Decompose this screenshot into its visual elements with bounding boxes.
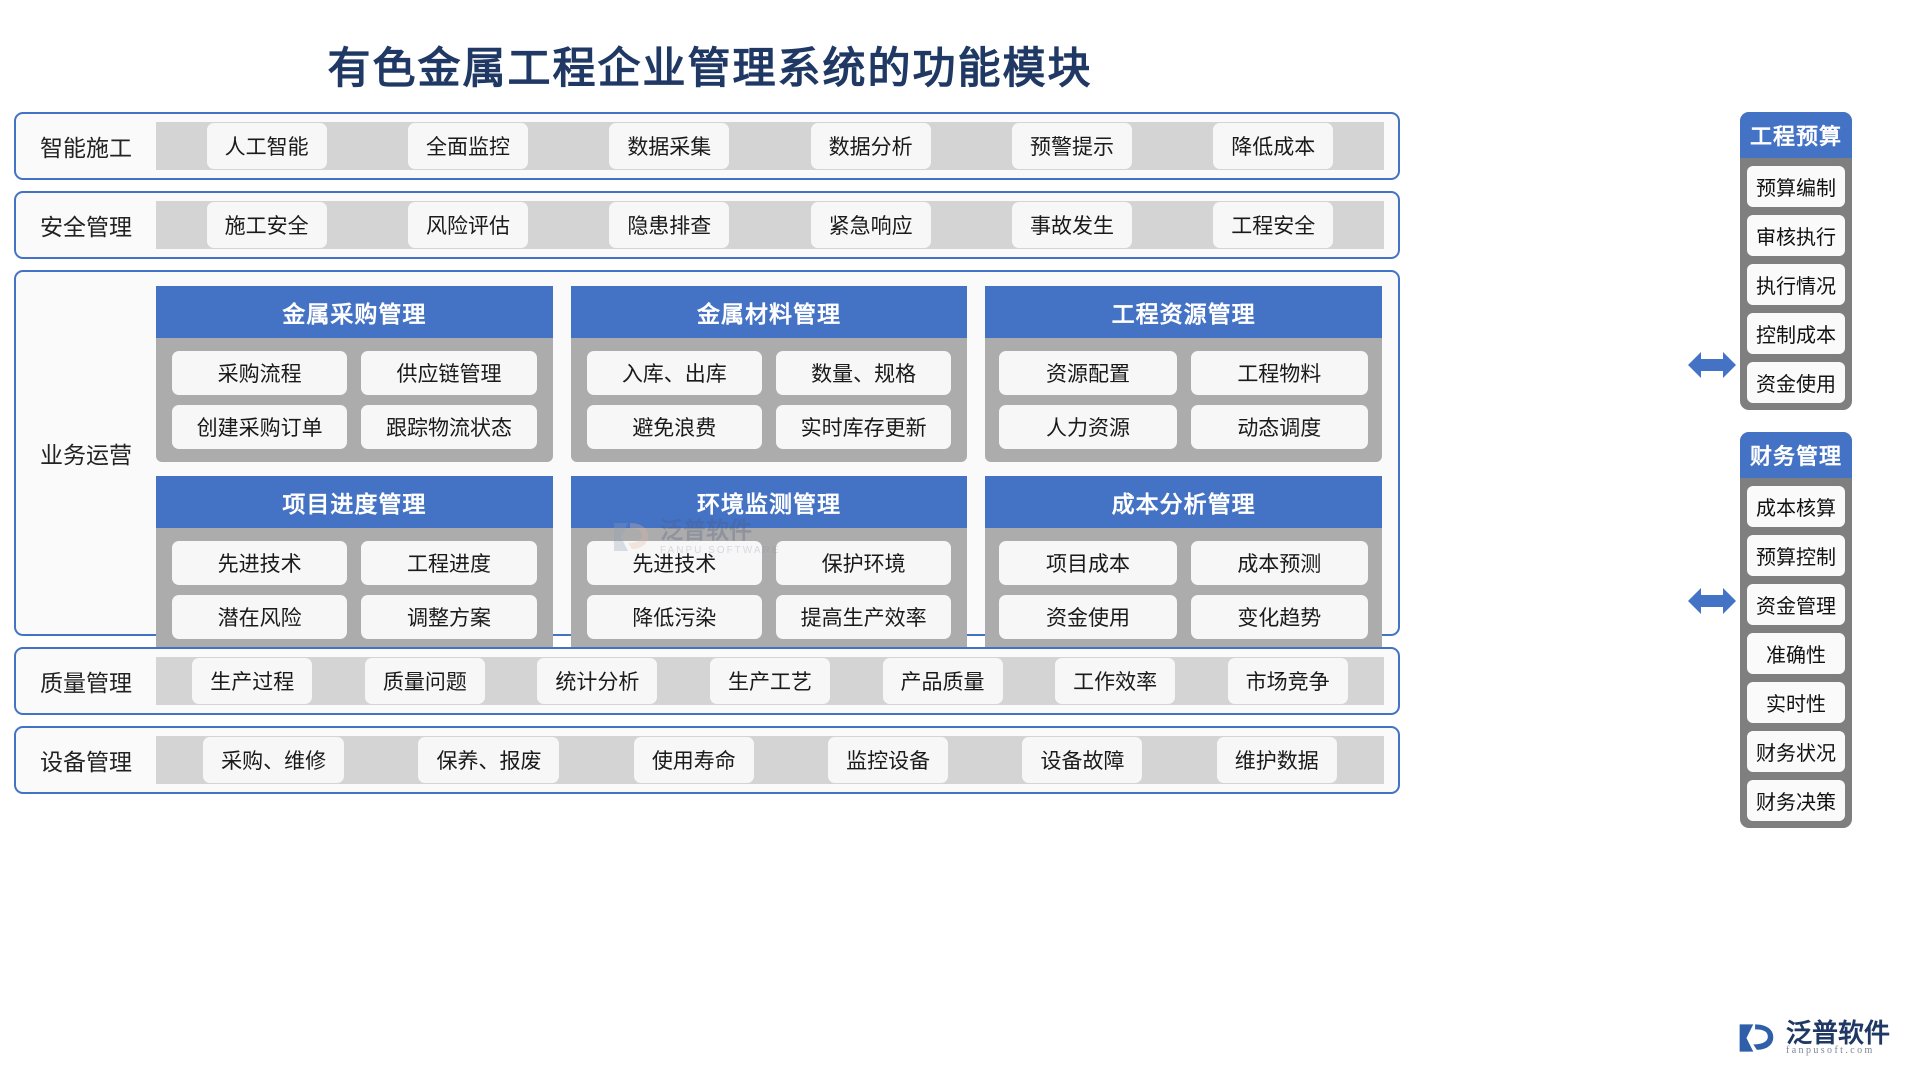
business-card-grid: 金属采购管理 采购流程 供应链管理 创建采购订单 跟踪物流状态 金属材料管理 入…	[156, 272, 1398, 634]
chip-item[interactable]: 采购流程	[172, 351, 347, 395]
chip-item[interactable]: 避免浪费	[587, 405, 762, 449]
chip-item[interactable]: 全面监控	[408, 123, 528, 169]
row-safety-management: 安全管理 施工安全 风险评估 隐患排查 紧急响应 事故发生 工程安全	[14, 191, 1400, 259]
card-metal-procurement: 金属采购管理 采购流程 供应链管理 创建采购订单 跟踪物流状态	[156, 286, 553, 462]
chip-item[interactable]: 调整方案	[361, 595, 536, 639]
main-column: 智能施工 人工智能 全面监控 数据采集 数据分析 预警提示 降低成本 安全管理 …	[14, 112, 1400, 805]
chip-item[interactable]: 先进技术	[172, 541, 347, 585]
row-smart-construction: 智能施工 人工智能 全面监控 数据采集 数据分析 预警提示 降低成本	[14, 112, 1400, 180]
page-title: 有色金属工程企业管理系统的功能模块	[0, 34, 1420, 96]
card-items: 先进技术 工程进度 潜在风险 调整方案	[156, 528, 553, 652]
chip-item[interactable]: 工程物料	[1191, 351, 1368, 395]
chip-item[interactable]: 动态调度	[1191, 405, 1368, 449]
chip-item[interactable]: 施工安全	[207, 202, 327, 248]
row-items-quality-management: 生产过程 质量问题 统计分析 生产工艺 产品质量 工作效率 市场竞争	[156, 657, 1384, 705]
row-label-quality-management: 质量管理	[16, 664, 156, 698]
sidebar-item[interactable]: 资金使用	[1747, 362, 1845, 403]
row-quality-management: 质量管理 生产过程 质量问题 统计分析 生产工艺 产品质量 工作效率 市场竞争	[14, 647, 1400, 715]
sidebar-item[interactable]: 控制成本	[1747, 313, 1845, 354]
chip-item[interactable]: 潜在风险	[172, 595, 347, 639]
card-items: 采购流程 供应链管理 创建采购订单 跟踪物流状态	[156, 338, 553, 462]
chip-item[interactable]: 成本预测	[1191, 541, 1368, 585]
card-title: 环境监测管理	[571, 476, 968, 528]
chip-item[interactable]: 跟踪物流状态	[361, 405, 536, 449]
chip-item[interactable]: 数据采集	[609, 123, 729, 169]
chip-item[interactable]: 人工智能	[207, 123, 327, 169]
chip-item[interactable]: 人力资源	[999, 405, 1176, 449]
chip-item[interactable]: 数据分析	[811, 123, 931, 169]
chip-item[interactable]: 保养、报废	[418, 737, 559, 783]
side-panel-financial-management: 财务管理 成本核算 预算控制 资金管理 准确性 实时性 财务状况 财务决策	[1740, 432, 1852, 828]
chip-item[interactable]: 工作效率	[1055, 658, 1175, 704]
brand-domain: fanpusoft.com	[1786, 1046, 1890, 1056]
chip-item[interactable]: 实时库存更新	[776, 405, 951, 449]
side-panel-title: 财务管理	[1740, 432, 1852, 478]
sidebar-item[interactable]: 审核执行	[1747, 215, 1845, 256]
sidebar: 工程预算 预算编制 审核执行 执行情况 控制成本 资金使用 财务管理 成本核算 …	[1740, 112, 1852, 850]
card-cost-analysis: 成本分析管理 项目成本 成本预测 资金使用 变化趋势	[985, 476, 1382, 652]
sidebar-item[interactable]: 财务状况	[1747, 731, 1845, 772]
side-panel-title: 工程预算	[1740, 112, 1852, 158]
chip-item[interactable]: 质量问题	[365, 658, 485, 704]
row-label-safety-management: 安全管理	[16, 208, 156, 242]
row-items-smart-construction: 人工智能 全面监控 数据采集 数据分析 预警提示 降低成本	[156, 122, 1384, 170]
sidebar-item[interactable]: 预算控制	[1747, 535, 1845, 576]
sidebar-item[interactable]: 成本核算	[1747, 486, 1845, 527]
card-title: 金属采购管理	[156, 286, 553, 338]
card-items: 入库、出库 数量、规格 避免浪费 实时库存更新	[571, 338, 968, 462]
chip-item[interactable]: 采购、维修	[203, 737, 344, 783]
chip-item[interactable]: 风险评估	[408, 202, 528, 248]
chip-item[interactable]: 项目成本	[999, 541, 1176, 585]
card-engineering-resource: 工程资源管理 资源配置 工程物料 人力资源 动态调度	[985, 286, 1382, 462]
card-items: 资源配置 工程物料 人力资源 动态调度	[985, 338, 1382, 462]
card-title: 工程资源管理	[985, 286, 1382, 338]
chip-item[interactable]: 使用寿命	[634, 737, 754, 783]
card-title: 成本分析管理	[985, 476, 1382, 528]
row-items-device-management: 采购、维修 保养、报废 使用寿命 监控设备 设备故障 维护数据	[156, 736, 1384, 784]
chip-item[interactable]: 降低污染	[587, 595, 762, 639]
chip-item[interactable]: 先进技术	[587, 541, 762, 585]
card-items: 先进技术 保护环境 降低污染 提高生产效率	[571, 528, 968, 652]
chip-item[interactable]: 设备故障	[1022, 737, 1142, 783]
row-device-management: 设备管理 采购、维修 保养、报废 使用寿命 监控设备 设备故障 维护数据	[14, 726, 1400, 794]
chip-item[interactable]: 事故发生	[1012, 202, 1132, 248]
chip-item[interactable]: 生产工艺	[710, 658, 830, 704]
row-label-device-management: 设备管理	[16, 743, 156, 777]
card-title: 金属材料管理	[571, 286, 968, 338]
sidebar-item[interactable]: 财务决策	[1747, 780, 1845, 821]
card-title: 项目进度管理	[156, 476, 553, 528]
card-metal-material: 金属材料管理 入库、出库 数量、规格 避免浪费 实时库存更新	[571, 286, 968, 462]
chip-item[interactable]: 维护数据	[1217, 737, 1337, 783]
brand-logo: 泛普软件 fanpusoft.com	[1736, 1018, 1890, 1058]
chip-item[interactable]: 降低成本	[1213, 123, 1333, 169]
side-panel-engineering-budget: 工程预算 预算编制 审核执行 执行情况 控制成本 资金使用	[1740, 112, 1852, 410]
chip-item[interactable]: 工程安全	[1213, 202, 1333, 248]
chip-item[interactable]: 提高生产效率	[776, 595, 951, 639]
chip-item[interactable]: 入库、出库	[587, 351, 762, 395]
sidebar-item[interactable]: 预算编制	[1747, 166, 1845, 207]
chip-item[interactable]: 资源配置	[999, 351, 1176, 395]
chip-item[interactable]: 市场竞争	[1228, 658, 1348, 704]
card-items: 项目成本 成本预测 资金使用 变化趋势	[985, 528, 1382, 652]
chip-item[interactable]: 统计分析	[537, 658, 657, 704]
chip-item[interactable]: 监控设备	[828, 737, 948, 783]
row-label-business-operations: 业务运营	[16, 272, 156, 634]
sidebar-item[interactable]: 执行情况	[1747, 264, 1845, 305]
chip-item[interactable]: 变化趋势	[1191, 595, 1368, 639]
card-project-progress: 项目进度管理 先进技术 工程进度 潜在风险 调整方案	[156, 476, 553, 652]
chip-item[interactable]: 隐患排查	[609, 202, 729, 248]
double-arrow-icon	[1686, 584, 1738, 618]
chip-item[interactable]: 资金使用	[999, 595, 1176, 639]
chip-item[interactable]: 创建采购订单	[172, 405, 347, 449]
chip-item[interactable]: 生产过程	[192, 658, 312, 704]
sidebar-item[interactable]: 准确性	[1747, 633, 1845, 674]
chip-item[interactable]: 工程进度	[361, 541, 536, 585]
sidebar-item[interactable]: 资金管理	[1747, 584, 1845, 625]
sidebar-item[interactable]: 实时性	[1747, 682, 1845, 723]
card-environment-monitoring: 环境监测管理 先进技术 保护环境 降低污染 提高生产效率	[571, 476, 968, 652]
chip-item[interactable]: 产品质量	[883, 658, 1003, 704]
chip-item[interactable]: 紧急响应	[811, 202, 931, 248]
row-items-safety-management: 施工安全 风险评估 隐患排查 紧急响应 事故发生 工程安全	[156, 201, 1384, 249]
chip-item[interactable]: 预警提示	[1012, 123, 1132, 169]
double-arrow-icon	[1686, 348, 1738, 382]
fanpu-logo-icon	[1736, 1018, 1776, 1058]
brand-name: 泛普软件	[1786, 1020, 1890, 1046]
chip-item[interactable]: 供应链管理	[361, 351, 536, 395]
chip-item[interactable]: 数量、规格	[776, 351, 951, 395]
row-label-smart-construction: 智能施工	[16, 129, 156, 163]
chip-item[interactable]: 保护环境	[776, 541, 951, 585]
row-business-operations: 业务运营 金属采购管理 采购流程 供应链管理 创建采购订单 跟踪物流状态 金属材…	[14, 270, 1400, 636]
